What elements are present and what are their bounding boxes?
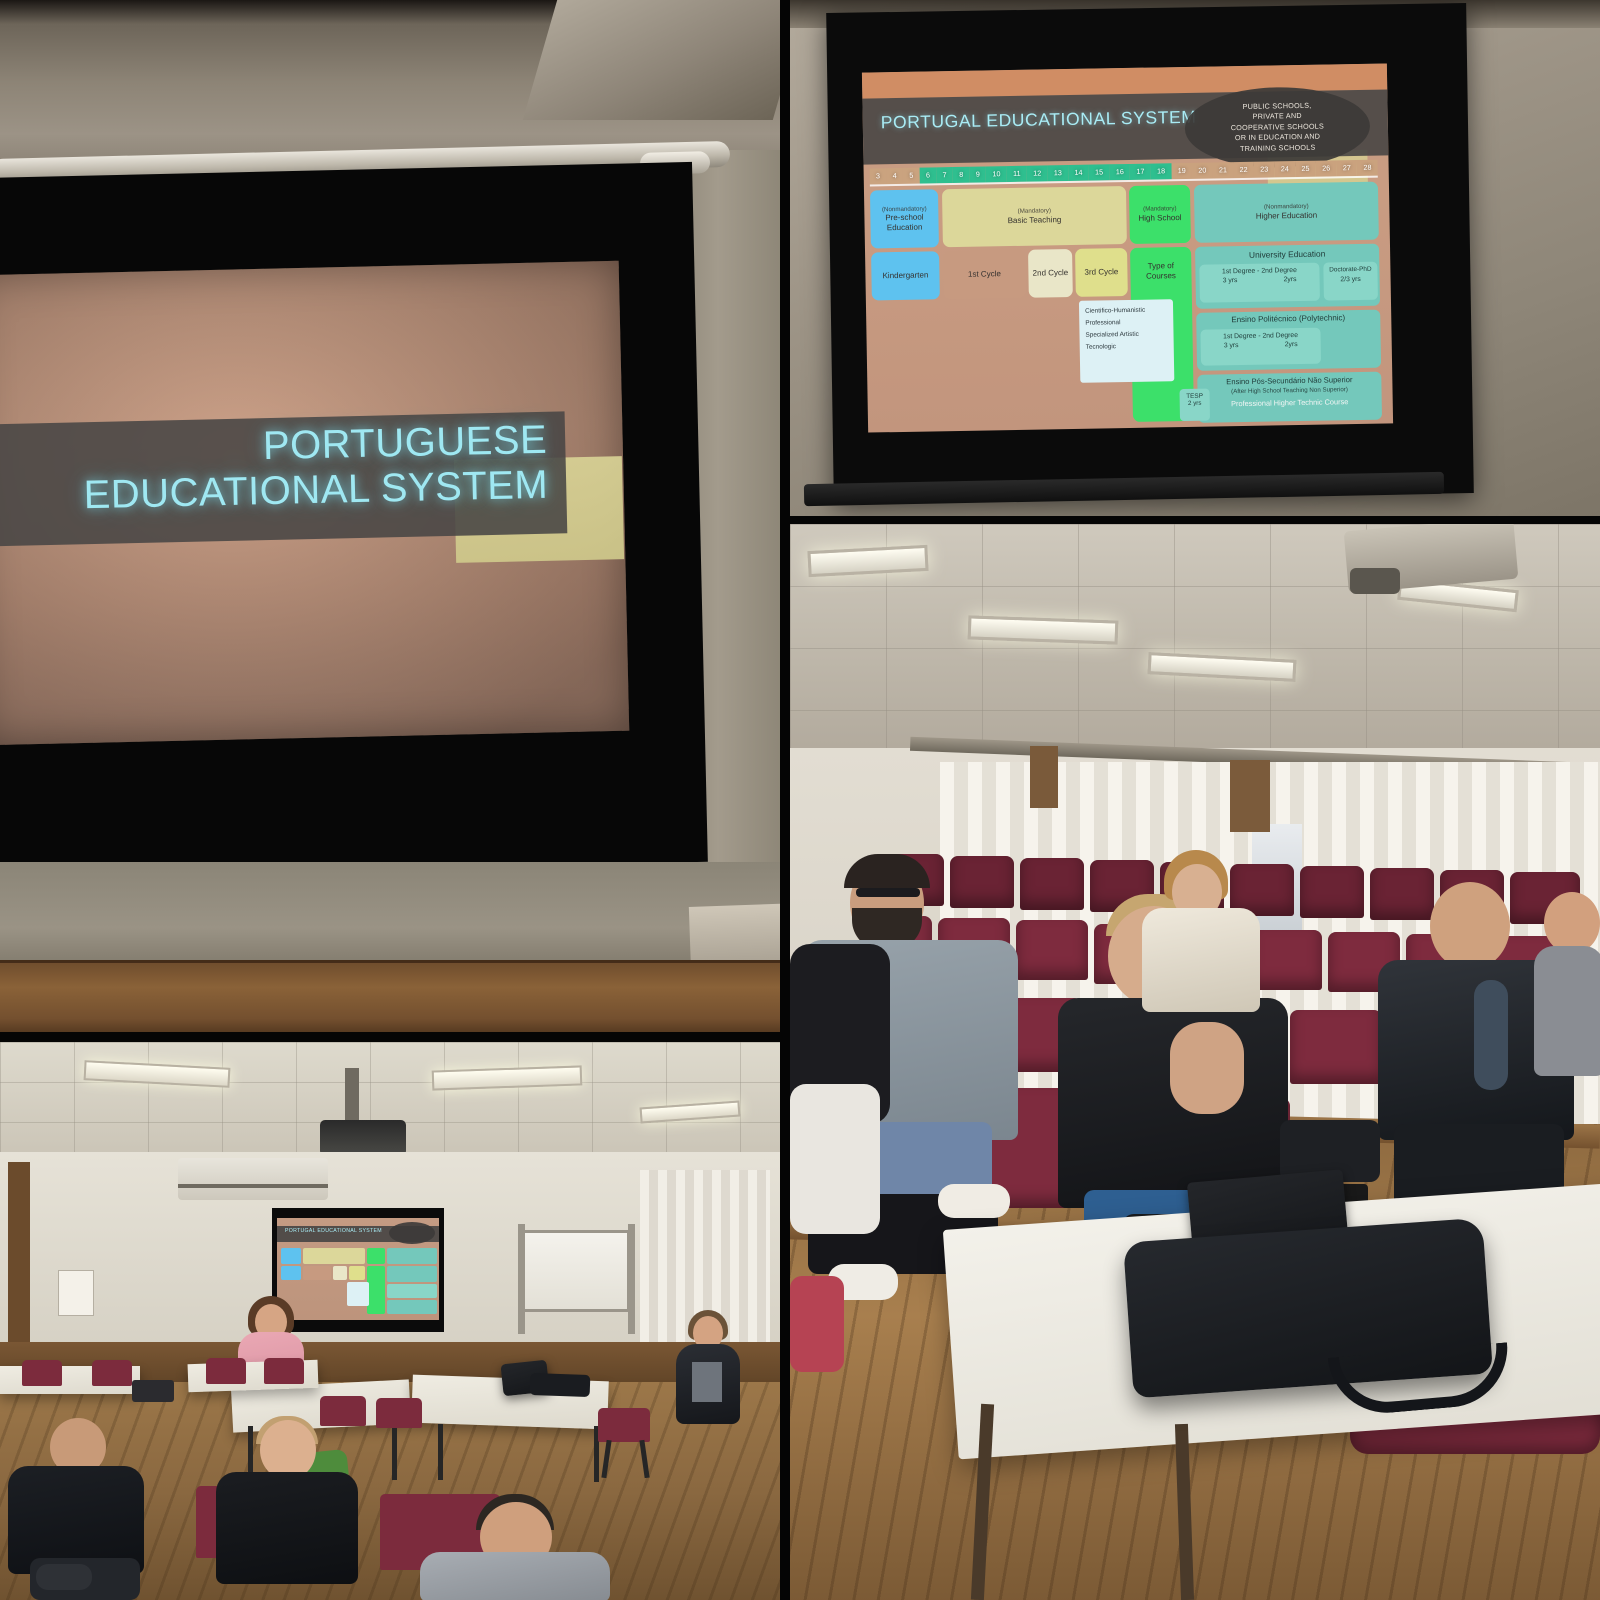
box-higher-education: (Nonmandatory) Higher Education <box>1194 182 1379 243</box>
age-tick-9: 9 <box>969 166 986 182</box>
collage-divider-horizontal-right <box>780 516 1600 524</box>
age-tick-25: 25 <box>1295 161 1316 177</box>
box-1st-cycle-label: 1st Cycle <box>968 269 1001 279</box>
callout-text: PUBLIC SCHOOLS, PRIVATE AND COOPERATIVE … <box>1222 100 1332 154</box>
desk-leg <box>438 1424 443 1480</box>
panel-audience-photo <box>790 524 1600 1600</box>
person-torso <box>420 1552 610 1600</box>
box-kindergarten-label: Kindergarten <box>882 271 928 281</box>
whiteboard <box>520 1230 630 1312</box>
chair <box>22 1360 62 1386</box>
box-type-of-courses-label: Type of Courses <box>1133 261 1188 281</box>
person-hand <box>1170 1022 1244 1114</box>
age-tick-17: 17 <box>1130 164 1151 180</box>
wall-pillar-left <box>1030 746 1058 808</box>
mini-box-kindergarten <box>281 1266 301 1280</box>
box-3rd-cycle: 3rd Cycle <box>1075 248 1128 297</box>
doctorate-box: Doctorate-PhD 2/3 yrs <box>1323 262 1378 301</box>
chair <box>376 1398 422 1428</box>
person-hair <box>844 854 930 888</box>
person-woman-cream <box>1142 850 1262 1030</box>
age-tick-14: 14 <box>1068 165 1089 181</box>
box-high-school-label: High School <box>1138 213 1181 223</box>
mini-box-courses <box>367 1266 385 1314</box>
box-high-school: (Mandatory) High School <box>1129 185 1191 244</box>
group-polytechnic-label: Ensino Politécnico (Polytechnic) <box>1196 310 1380 325</box>
uni-degree-2-duration: 2yrs <box>1284 276 1297 283</box>
age-tick-23: 23 <box>1254 161 1275 177</box>
age-tick-10: 10 <box>986 166 1007 182</box>
box-2nd-cycle: 2nd Cycle <box>1028 249 1073 298</box>
person-seated-right <box>420 1494 610 1600</box>
age-tick-22: 22 <box>1233 162 1254 178</box>
mini-box-preschool <box>281 1248 301 1264</box>
projected-slide: PORTUGAL EDUCATIONAL SYSTEM PUBLIC SCHOO… <box>862 63 1393 432</box>
mini-box-cycle1 <box>303 1266 331 1280</box>
wall-lower <box>0 862 780 972</box>
whiteboard-leg <box>518 1224 525 1334</box>
wall-notice <box>58 1270 94 1316</box>
wall-pillar-right <box>1230 760 1270 832</box>
projector-mount <box>345 1068 359 1124</box>
seat <box>1300 866 1364 918</box>
age-tick-19: 19 <box>1171 163 1192 179</box>
slide-title-band: PORTUGUESE EDUCATIONAL SYSTEM <box>0 411 567 546</box>
course-types-list: Cientifico-Humanistic Professional Speci… <box>1079 299 1174 383</box>
age-tick-6: 6 <box>919 167 936 183</box>
box-higher-education-sublabel: (Nonmandatory) <box>1264 203 1309 211</box>
collage-divider-horizontal-left <box>0 1032 790 1042</box>
shoe <box>36 1564 92 1590</box>
box-basic-teaching: (Mandatory) Basic Teaching <box>942 186 1127 247</box>
age-tick-13: 13 <box>1047 165 1068 181</box>
mini-box-cycle3 <box>349 1266 365 1280</box>
age-tick-15: 15 <box>1089 164 1110 180</box>
age-tick-24: 24 <box>1274 161 1295 177</box>
group-university-education: University Education 1st Degree - 2nd De… <box>1195 244 1380 309</box>
door-frame <box>8 1162 30 1372</box>
box-high-school-sublabel: (Mandatory) <box>1143 206 1176 214</box>
person-torso <box>1142 908 1260 1012</box>
person-white-top <box>790 1084 880 1234</box>
ceiling-corner <box>523 0 780 120</box>
mini-box-polytechnic <box>387 1284 437 1298</box>
projector-lens <box>1350 568 1400 594</box>
person-jacket-stripe <box>1474 980 1508 1090</box>
uni-degree-1-duration: 3 yrs <box>1223 277 1238 284</box>
professional-higher-technic-course: Professional Higher Technic Course <box>1198 393 1382 409</box>
chair <box>206 1358 246 1384</box>
wood-wainscot <box>0 960 780 1032</box>
poly-degrees-box: 1st Degree - 2nd Degree 3 yrs 2yrs <box>1200 328 1321 366</box>
uni-degrees-box: 1st Degree - 2nd Degree 3 yrs 2yrs <box>1199 263 1320 303</box>
bag-on-desk <box>530 1373 591 1397</box>
doctorate-duration: 2/3 yrs <box>1323 273 1377 284</box>
slide-title-small: PORTUGAL EDUCATIONAL SYSTEM <box>285 1228 382 1234</box>
doctorate-label: Doctorate-PhD <box>1323 262 1377 274</box>
age-tick-20: 20 <box>1192 163 1213 179</box>
age-tick-5: 5 <box>903 168 920 184</box>
backpack <box>790 1276 844 1372</box>
poly-degree-2-duration: 2yrs <box>1285 341 1298 348</box>
group-university-education-label: University Education <box>1195 244 1379 261</box>
person-seated-center <box>212 1416 362 1600</box>
callout-line-5: TRAINING SCHOOLS <box>1231 142 1324 154</box>
whiteboard-leg <box>628 1224 635 1334</box>
course-type-3: Tecnologic <box>1086 340 1168 353</box>
age-tick-27: 27 <box>1336 160 1357 176</box>
person-shirt <box>692 1362 722 1402</box>
age-tick-8: 8 <box>953 167 970 183</box>
age-tick-26: 26 <box>1316 160 1337 176</box>
group-post-secondary: Ensino Pós-Secundário Não Superior (Afte… <box>1197 372 1382 423</box>
monitor <box>132 1380 174 1402</box>
age-tick-21: 21 <box>1213 162 1234 178</box>
mini-box-basic <box>303 1248 365 1264</box>
group-polytechnic: Ensino Politécnico (Polytechnic) 1st Deg… <box>1196 310 1381 371</box>
projector <box>320 1120 406 1156</box>
ac-vent-line <box>178 1184 328 1188</box>
box-higher-education-label: Higher Education <box>1256 211 1318 222</box>
person-standing-woman <box>676 1310 742 1438</box>
person-head <box>260 1420 316 1480</box>
age-tick-7: 7 <box>936 167 953 183</box>
box-kindergarten: Kindergarten <box>871 251 940 300</box>
desk-leg <box>392 1428 397 1480</box>
panel-title-slide-photo: PORTUGUESE EDUCATIONAL SYSTEM <box>0 0 780 1032</box>
mini-box-postsec <box>387 1300 437 1314</box>
mini-box-highschool <box>367 1248 385 1264</box>
box-basic-teaching-sublabel: (Mandatory) <box>1018 208 1051 216</box>
slide-title-text: PORTUGUESE EDUCATIONAL SYSTEM <box>0 411 567 546</box>
age-tick-3: 3 <box>870 168 887 184</box>
person-torso <box>1534 946 1600 1076</box>
box-3rd-cycle-label: 3rd Cycle <box>1084 267 1118 277</box>
wainscot-line <box>0 960 780 963</box>
box-basic-teaching-label: Basic Teaching <box>1008 215 1062 226</box>
mini-box-course-list <box>347 1282 369 1306</box>
box-pre-school-sublabel: (Nonmandatory) <box>882 205 927 213</box>
age-tick-18: 18 <box>1151 163 1172 179</box>
person-head <box>1544 892 1600 954</box>
panel-diagram-slide-photo: PORTUGAL EDUCATIONAL SYSTEM PUBLIC SCHOO… <box>790 0 1600 516</box>
box-1st-cycle: 1st Cycle <box>943 250 1026 299</box>
box-pre-school-education: (Nonmandatory) Pre-school Education <box>870 189 939 248</box>
chair <box>598 1408 650 1442</box>
mini-box-university <box>387 1266 437 1282</box>
person-torso <box>216 1472 358 1584</box>
poly-degree-1-duration: 3 yrs <box>1224 342 1239 349</box>
mini-box-higher <box>387 1248 437 1264</box>
callout-bubble <box>389 1222 435 1244</box>
shoe <box>938 1184 1010 1218</box>
box-pre-school-label: Pre-school Education <box>873 212 935 232</box>
chair <box>264 1358 304 1384</box>
age-tick-16: 16 <box>1109 164 1130 180</box>
tesp-badge-sublabel: 2 yrs <box>1180 400 1210 408</box>
photo-collage: PORTUGUESE EDUCATIONAL SYSTEM PORTUGAL E… <box>0 0 1600 1600</box>
collage-divider-vertical <box>780 0 790 1600</box>
box-2nd-cycle-label: 2nd Cycle <box>1033 268 1069 278</box>
age-tick-11: 11 <box>1007 166 1027 182</box>
age-tick-12: 12 <box>1027 165 1048 181</box>
mini-box-cycle2 <box>333 1266 347 1280</box>
age-tick-4: 4 <box>886 168 903 184</box>
person-head <box>1430 882 1510 970</box>
tesp-badge-label: TESP <box>1179 389 1209 401</box>
air-conditioner <box>178 1158 328 1200</box>
chair <box>92 1360 132 1386</box>
panel-room-overview-photo: PORTUGAL EDUCATIONAL SYSTEM <box>0 1042 780 1600</box>
person-edge-right <box>1534 892 1600 1072</box>
tesp-badge: TESP 2 yrs <box>1179 389 1210 422</box>
age-tick-28: 28 <box>1357 160 1378 176</box>
eyeglasses-icon <box>856 888 920 897</box>
